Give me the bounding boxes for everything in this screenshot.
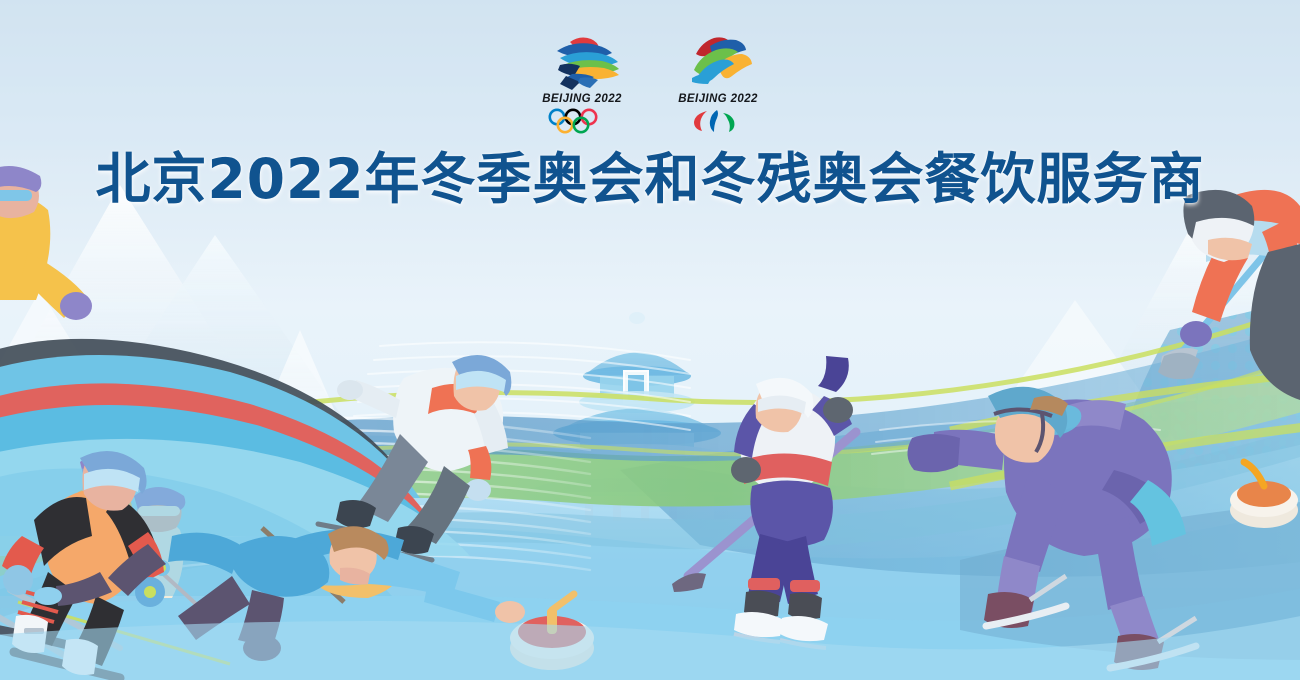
olympic-rings xyxy=(545,108,619,134)
beijing-2022-winter-paralympic-emblem xyxy=(672,32,764,90)
olympic-wordmark: BEIJING 2022 xyxy=(542,93,622,106)
olympic-rings-wrap xyxy=(545,108,619,134)
paralympic-agitos xyxy=(687,108,749,134)
paralympic-emblem-block: BEIJING 2022 xyxy=(669,32,767,134)
paralympic-wordmark: BEIJING 2022 xyxy=(678,93,758,106)
beijing-2022-catering-banner: BEIJING 2022 xyxy=(0,0,1300,680)
beijing-2022-winter-olympic-emblem xyxy=(536,32,628,90)
paralympic-agitos-wrap xyxy=(687,108,749,134)
page-title: 北京2022年冬季奥会和冬残奥会餐饮服务商 xyxy=(0,146,1300,212)
olympic-emblem-block: BEIJING 2022 xyxy=(533,32,631,134)
emblem-row: BEIJING 2022 xyxy=(0,32,1300,134)
